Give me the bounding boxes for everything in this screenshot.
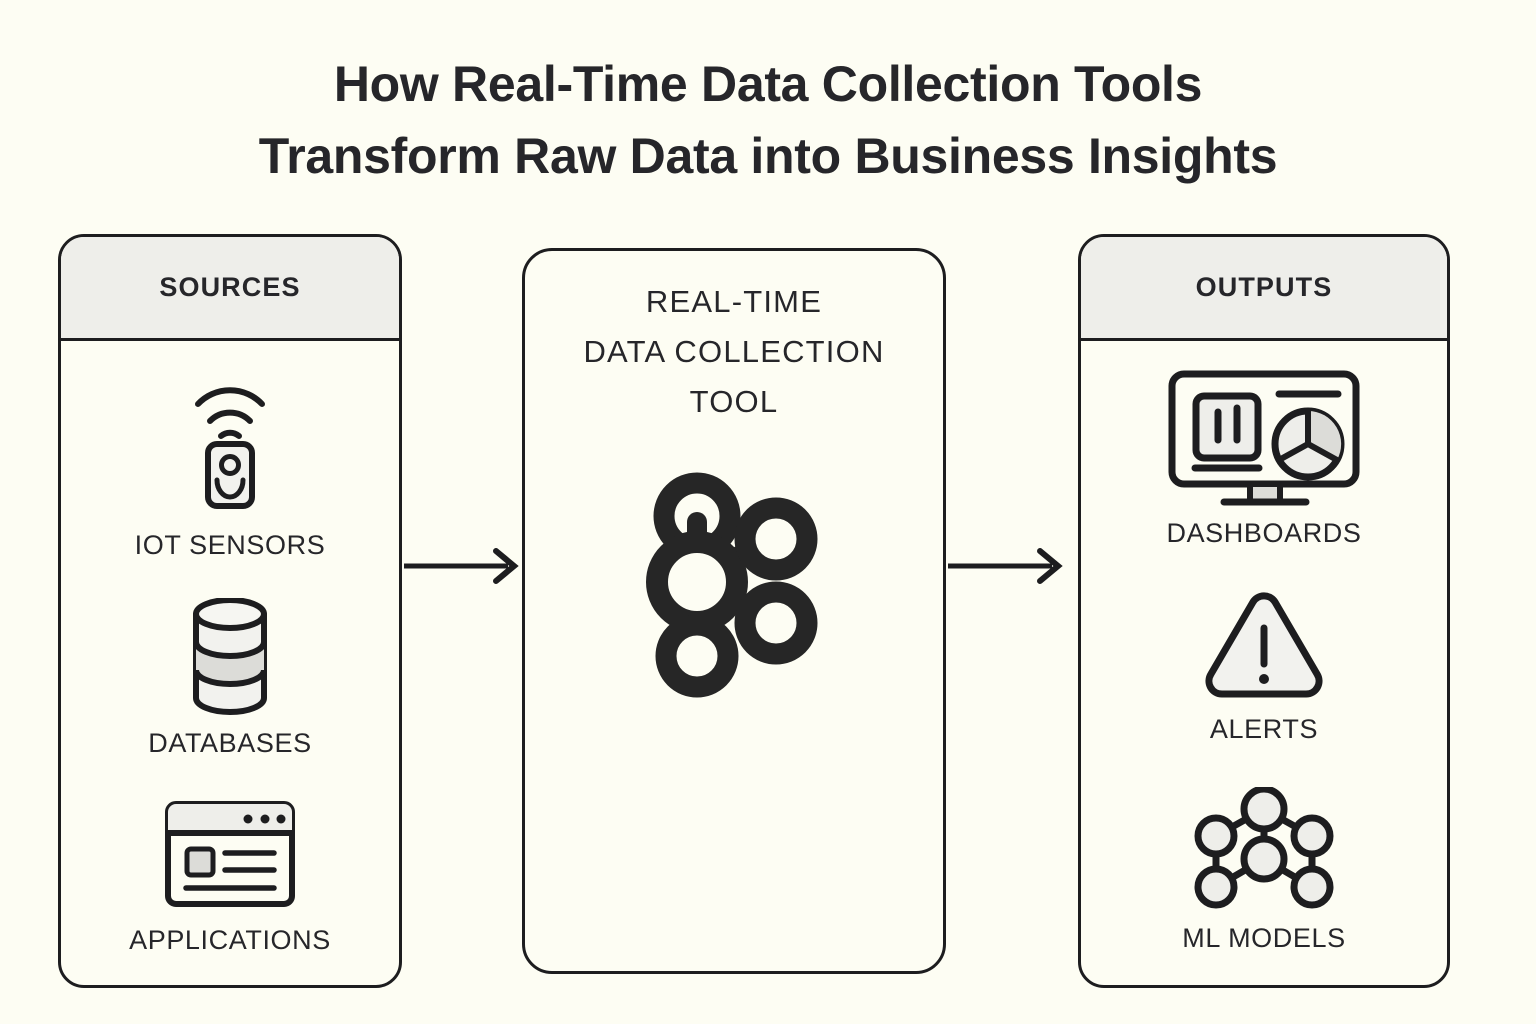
output-item-alerts-label: ALERTS [1210,714,1318,745]
panel-outputs-body: DASHBOARDS ALERTS [1081,341,1447,985]
database-icon [170,598,290,716]
output-item-ml-models[interactable]: ML MODELS [1182,787,1345,954]
panel-sources-body: IOT SENSORS DATABASES [61,341,399,985]
page-title: How Real-Time Data Collection Tools Tran… [0,48,1536,192]
panel-realtime-tool: REAL-TIME DATA COLLECTION TOOL [522,248,946,974]
source-item-iot-sensors-label: IOT SENSORS [135,530,326,561]
tool-title-line-2: DATA COLLECTION [525,327,943,377]
output-item-dashboards-label: DASHBOARDS [1166,518,1361,549]
source-item-applications[interactable]: APPLICATIONS [129,797,331,956]
panel-outputs-header-label: OUTPUTS [1196,272,1333,303]
node-graph-icon [639,465,829,695]
tool-title-line-1: REAL-TIME [525,277,943,327]
panel-sources-header: SOURCES [61,237,399,341]
warning-triangle-icon [1201,590,1327,702]
arrow-tool-to-outputs [948,546,1066,586]
dashboard-monitor-icon [1166,368,1362,506]
title-line-2: Transform Raw Data into Business Insight… [0,120,1536,192]
panel-realtime-tool-title: REAL-TIME DATA COLLECTION TOOL [525,277,943,427]
application-window-icon [161,797,299,913]
iot-sensor-icon [170,366,290,518]
source-item-applications-label: APPLICATIONS [129,925,331,956]
tool-title-line-3: TOOL [525,377,943,427]
neural-network-icon [1191,787,1337,911]
source-item-databases[interactable]: DATABASES [148,598,311,759]
panel-sources-header-label: SOURCES [159,272,300,303]
arrow-sources-to-tool [404,546,522,586]
panel-sources: SOURCES IOT SENSO [58,234,402,988]
panel-outputs: OUTPUTS [1078,234,1450,988]
title-line-1: How Real-Time Data Collection Tools [0,48,1536,120]
output-item-alerts[interactable]: ALERTS [1201,590,1327,745]
output-item-dashboards[interactable]: DASHBOARDS [1166,368,1362,549]
source-item-iot-sensors[interactable]: IOT SENSORS [135,366,326,561]
source-item-databases-label: DATABASES [148,728,311,759]
panel-outputs-header: OUTPUTS [1081,237,1447,341]
output-item-ml-models-label: ML MODELS [1182,923,1345,954]
diagram-canvas: How Real-Time Data Collection Tools Tran… [0,0,1536,1024]
